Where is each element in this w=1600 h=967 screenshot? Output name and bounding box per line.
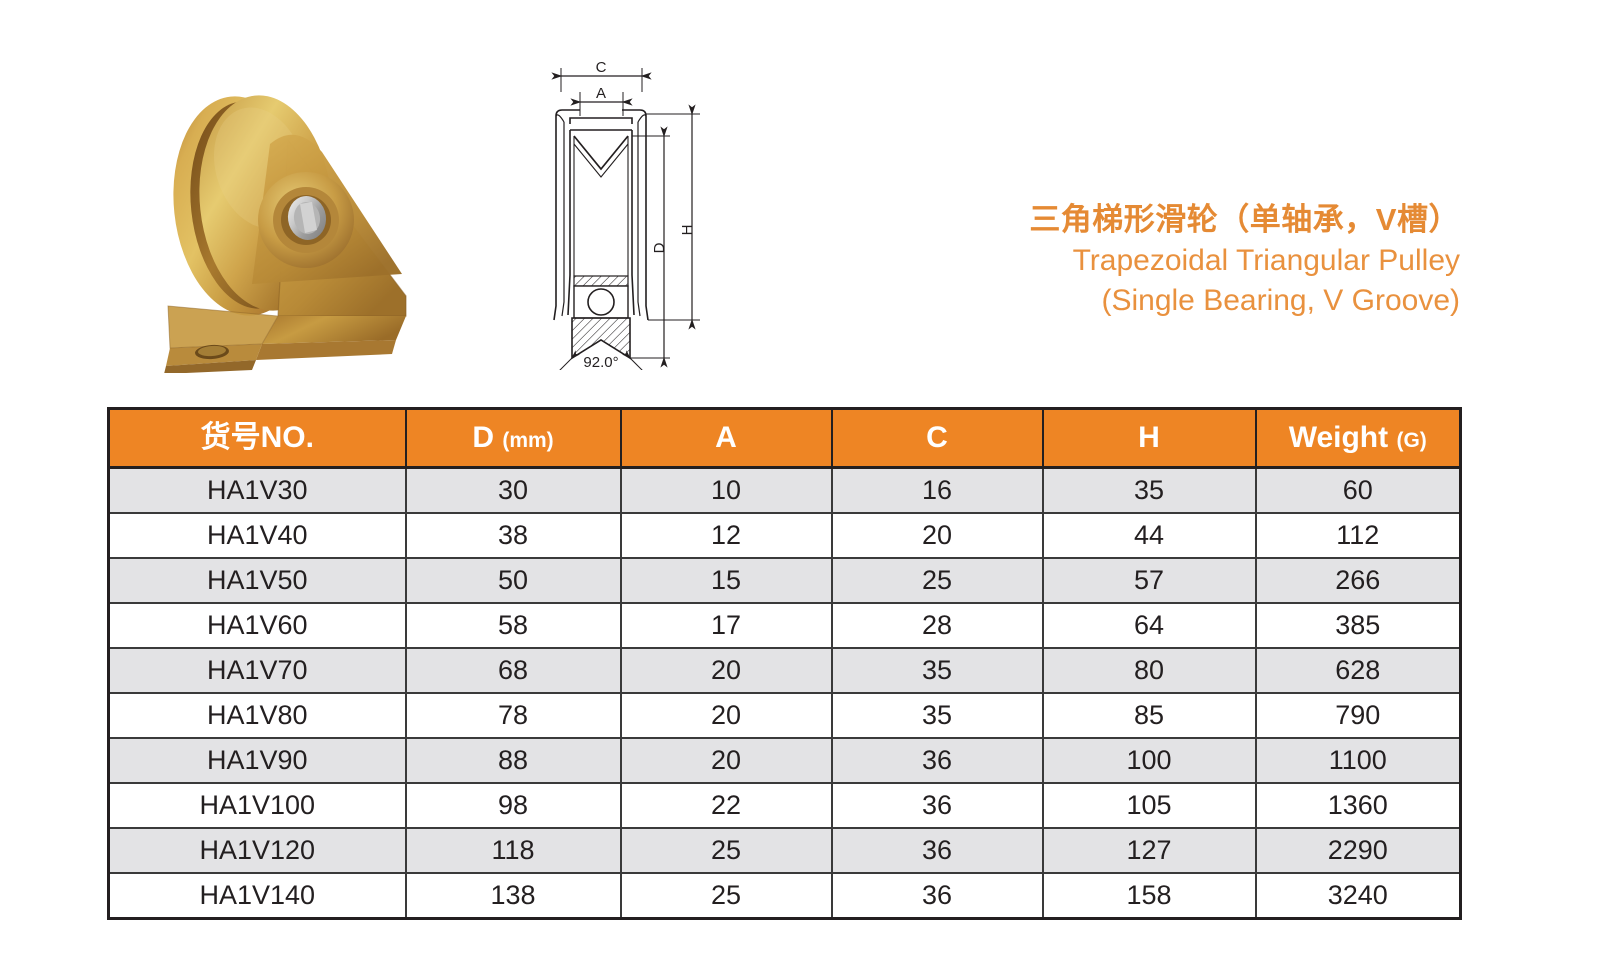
column-header-d: D (mm) bbox=[406, 409, 621, 468]
cell-weight: 266 bbox=[1256, 558, 1461, 603]
cell-weight: 2290 bbox=[1256, 828, 1461, 873]
cell-no: HA1V140 bbox=[109, 873, 406, 919]
cell-d: 30 bbox=[406, 468, 621, 514]
column-header-h: H bbox=[1043, 409, 1256, 468]
cell-a: 20 bbox=[621, 693, 832, 738]
cell-weight: 1360 bbox=[1256, 783, 1461, 828]
drawing-label-angle: 92.0° bbox=[583, 354, 618, 370]
product-title-block: 三角梯形滑轮（单轴承，V槽） Trapezoidal Triangular Pu… bbox=[840, 200, 1460, 322]
technical-drawing-svg: C A D H 92.0° bbox=[540, 40, 730, 370]
table-row: HA1V4038122044112 bbox=[109, 513, 1461, 558]
drawing-label-a: A bbox=[596, 85, 606, 102]
cell-c: 25 bbox=[832, 558, 1043, 603]
cell-d: 88 bbox=[406, 738, 621, 783]
cell-a: 25 bbox=[621, 828, 832, 873]
cell-h: 158 bbox=[1043, 873, 1256, 919]
product-photo-illustration bbox=[110, 48, 430, 373]
specification-table: 货号NO. D (mm) A C H Weight (G) HA1V3 bbox=[107, 407, 1462, 920]
cell-d: 68 bbox=[406, 648, 621, 693]
column-header-h-label: H bbox=[1138, 421, 1160, 454]
cell-weight: 3240 bbox=[1256, 873, 1461, 919]
cell-c: 35 bbox=[832, 648, 1043, 693]
column-header-no-label: 货号NO. bbox=[201, 421, 314, 454]
cell-h: 35 bbox=[1043, 468, 1256, 514]
cell-no: HA1V90 bbox=[109, 738, 406, 783]
cell-d: 78 bbox=[406, 693, 621, 738]
cell-c: 20 bbox=[832, 513, 1043, 558]
product-title-chinese: 三角梯形滑轮（单轴承，V槽） bbox=[840, 200, 1460, 241]
table-body: HA1V303010163560HA1V4038122044112HA1V505… bbox=[109, 468, 1461, 919]
cell-c: 28 bbox=[832, 603, 1043, 648]
cell-h: 105 bbox=[1043, 783, 1256, 828]
cell-no: HA1V50 bbox=[109, 558, 406, 603]
cell-d: 38 bbox=[406, 513, 621, 558]
cell-h: 127 bbox=[1043, 828, 1256, 873]
cell-c: 36 bbox=[832, 783, 1043, 828]
cell-d: 138 bbox=[406, 873, 621, 919]
table-row: HA1V14013825361583240 bbox=[109, 873, 1461, 919]
product-overview-region: C A D H 92.0° 三角梯形滑轮（单轴承，V槽） Trapezoidal… bbox=[0, 0, 1600, 392]
table-row: HA1V908820361001100 bbox=[109, 738, 1461, 783]
drawing-label-c: C bbox=[596, 59, 607, 76]
technical-drawing: C A D H 92.0° bbox=[540, 40, 730, 370]
column-header-weight-unit: (G) bbox=[1396, 429, 1426, 452]
cell-h: 100 bbox=[1043, 738, 1256, 783]
cell-weight: 1100 bbox=[1256, 738, 1461, 783]
cell-d: 50 bbox=[406, 558, 621, 603]
cell-a: 22 bbox=[621, 783, 832, 828]
cell-a: 17 bbox=[621, 603, 832, 648]
cell-a: 15 bbox=[621, 558, 832, 603]
cell-no: HA1V30 bbox=[109, 468, 406, 514]
table-row: HA1V12011825361272290 bbox=[109, 828, 1461, 873]
table-row: HA1V5050152557266 bbox=[109, 558, 1461, 603]
cell-h: 57 bbox=[1043, 558, 1256, 603]
drawing-label-h: H bbox=[679, 225, 696, 236]
cell-c: 36 bbox=[832, 873, 1043, 919]
cell-no: HA1V120 bbox=[109, 828, 406, 873]
cell-no: HA1V70 bbox=[109, 648, 406, 693]
cell-h: 80 bbox=[1043, 648, 1256, 693]
cell-h: 64 bbox=[1043, 603, 1256, 648]
table-row: HA1V6058172864385 bbox=[109, 603, 1461, 648]
column-header-weight: Weight (G) bbox=[1256, 409, 1461, 468]
cell-a: 25 bbox=[621, 873, 832, 919]
cell-d: 118 bbox=[406, 828, 621, 873]
cell-c: 16 bbox=[832, 468, 1043, 514]
table-row: HA1V1009822361051360 bbox=[109, 783, 1461, 828]
column-header-a-label: A bbox=[715, 421, 737, 454]
column-header-c-label: C bbox=[926, 421, 948, 454]
table-header: 货号NO. D (mm) A C H Weight (G) bbox=[109, 409, 1461, 468]
cell-weight: 112 bbox=[1256, 513, 1461, 558]
cell-a: 10 bbox=[621, 468, 832, 514]
cell-weight: 628 bbox=[1256, 648, 1461, 693]
column-header-a: A bbox=[621, 409, 832, 468]
cell-no: HA1V40 bbox=[109, 513, 406, 558]
cell-a: 20 bbox=[621, 738, 832, 783]
product-photo bbox=[110, 48, 430, 373]
table-row: HA1V303010163560 bbox=[109, 468, 1461, 514]
table-header-row: 货号NO. D (mm) A C H Weight (G) bbox=[109, 409, 1461, 468]
column-header-no: 货号NO. bbox=[109, 409, 406, 468]
cell-a: 20 bbox=[621, 648, 832, 693]
cell-no: HA1V100 bbox=[109, 783, 406, 828]
cell-c: 36 bbox=[832, 738, 1043, 783]
column-header-d-unit: (mm) bbox=[502, 429, 553, 452]
drawing-label-d: D bbox=[651, 242, 668, 253]
product-title-english-line1: Trapezoidal Triangular Pulley bbox=[840, 241, 1460, 282]
column-header-d-label: D bbox=[472, 421, 494, 454]
cell-no: HA1V80 bbox=[109, 693, 406, 738]
cell-c: 36 bbox=[832, 828, 1043, 873]
cell-h: 85 bbox=[1043, 693, 1256, 738]
cell-c: 35 bbox=[832, 693, 1043, 738]
product-title-english-line2: (Single Bearing, V Groove) bbox=[840, 281, 1460, 322]
cell-d: 58 bbox=[406, 603, 621, 648]
cell-h: 44 bbox=[1043, 513, 1256, 558]
cell-weight: 385 bbox=[1256, 603, 1461, 648]
column-header-weight-label: Weight bbox=[1289, 421, 1388, 454]
table-row: HA1V7068203580628 bbox=[109, 648, 1461, 693]
specification-table-wrapper: 货号NO. D (mm) A C H Weight (G) HA1V3 bbox=[107, 407, 1459, 920]
table-row: HA1V8078203585790 bbox=[109, 693, 1461, 738]
cell-no: HA1V60 bbox=[109, 603, 406, 648]
cell-weight: 790 bbox=[1256, 693, 1461, 738]
cell-weight: 60 bbox=[1256, 468, 1461, 514]
cell-a: 12 bbox=[621, 513, 832, 558]
column-header-c: C bbox=[832, 409, 1043, 468]
cell-d: 98 bbox=[406, 783, 621, 828]
